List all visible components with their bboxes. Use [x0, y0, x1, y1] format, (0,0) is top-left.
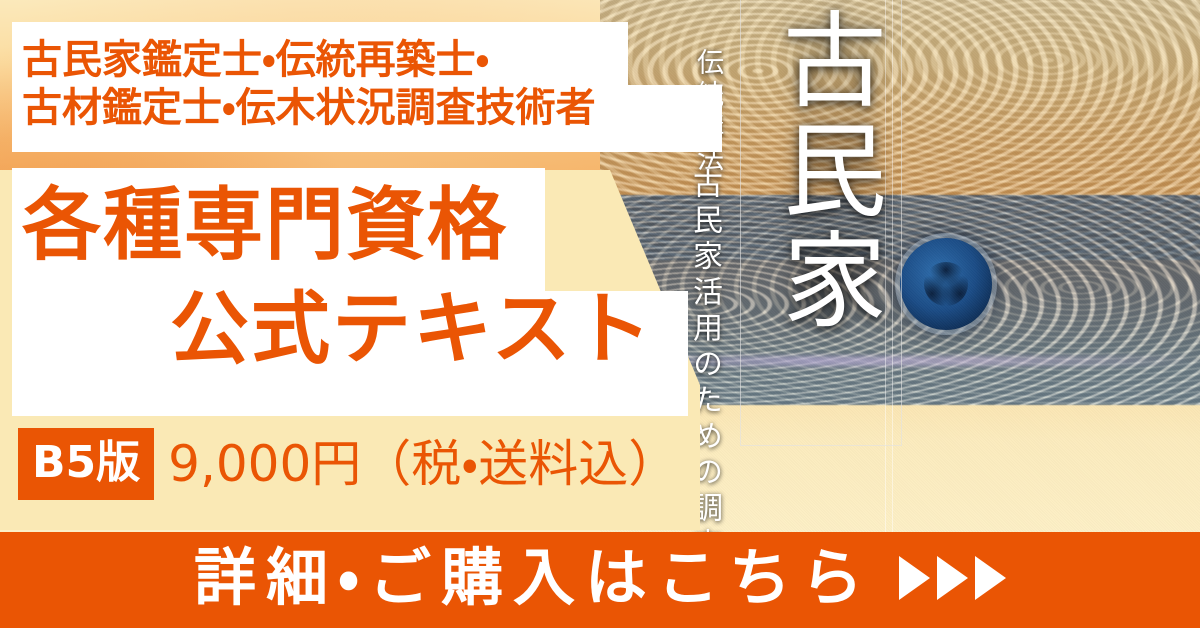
triangle-right-icon: [937, 556, 968, 600]
headline-line-1: 各種専門資格: [22, 186, 508, 265]
triangle-right-icon: [975, 556, 1006, 600]
qualifications-line-1: 古民家鑑定士・伝統再築士・: [22, 36, 722, 85]
qualifications-line-2: 古材鑑定士・伝木状況調査技術者: [22, 84, 722, 133]
promo-banner: 古民家 伝統構法 古民家活用のための調査と再生の 古民家鑑定士・伝統再築士・ 古…: [0, 0, 1200, 628]
cover-title: 古民家: [770, 6, 880, 336]
price-text: 9,000円（税・送料込）: [168, 439, 678, 489]
headline-line-2: 公式テキスト: [170, 290, 654, 369]
cta-button[interactable]: 詳細・ご購入はこちら: [0, 532, 1200, 628]
triangle-right-icon: [899, 556, 930, 600]
cta-arrows: [899, 556, 1006, 600]
size-badge: B5版: [18, 428, 154, 500]
cta-label: 詳細・ご購入はこちら: [194, 547, 873, 609]
price-row: B5版 9,000円（税・送料込）: [18, 428, 678, 500]
